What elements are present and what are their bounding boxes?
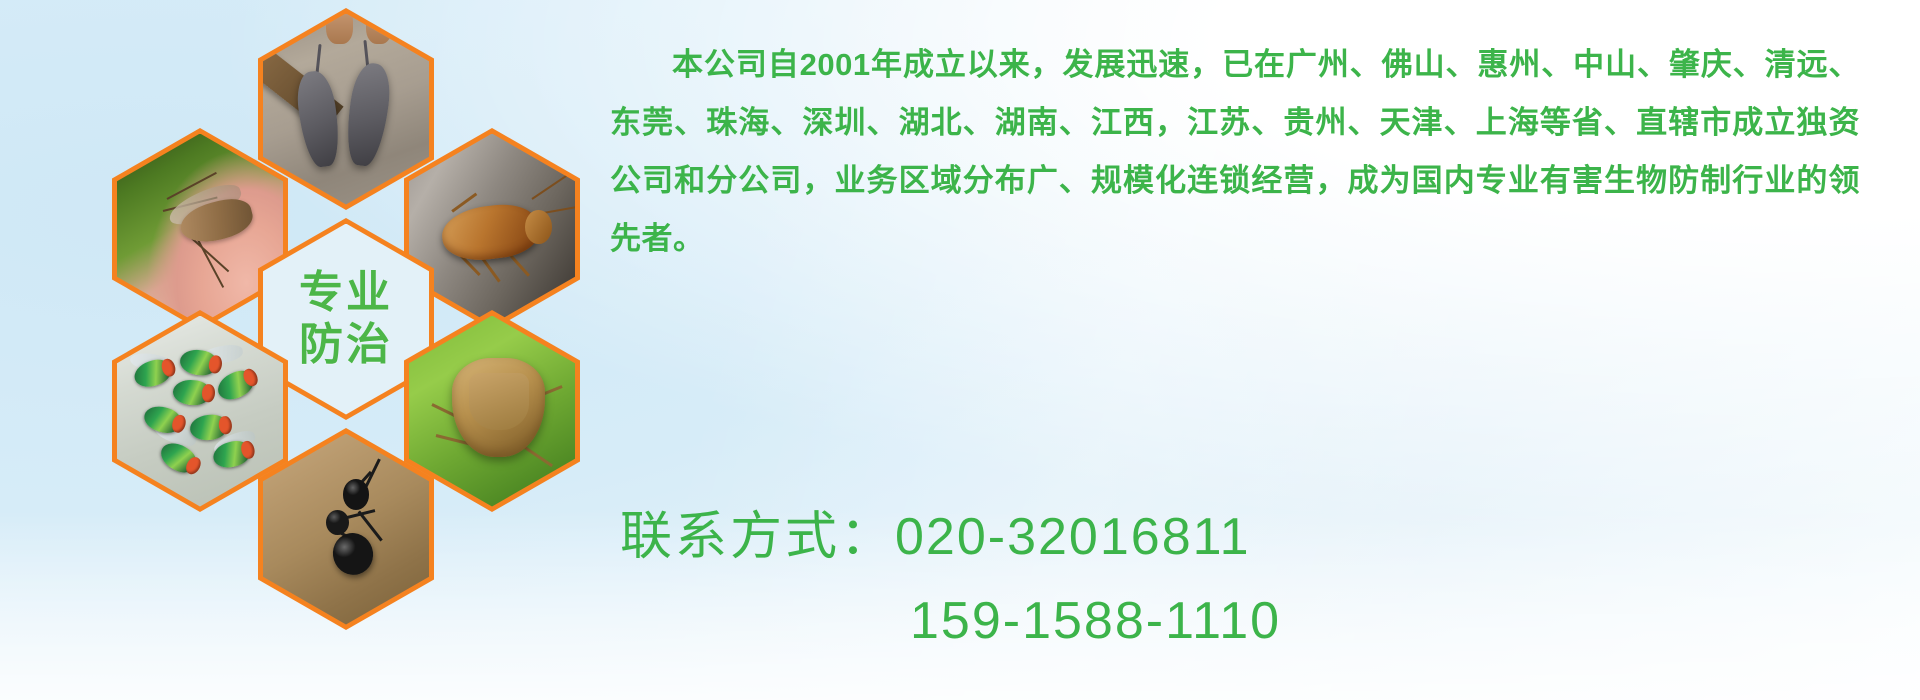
badge-line-1: 专业 xyxy=(299,270,393,316)
contact-block: 联系方式：020-32016811 159-1588-1110 xyxy=(620,495,1820,663)
roach-leg-2 xyxy=(481,256,501,282)
roach-head xyxy=(525,210,552,244)
promo-banner: 专业 防治 xyxy=(0,0,1920,700)
fly-photo xyxy=(117,316,283,507)
fly-body-3 xyxy=(213,366,257,404)
ant-photo xyxy=(263,434,429,625)
contact-line-secondary: 159-1588-1110 xyxy=(620,579,1820,663)
copy-block: 本公司自2001年成立以来，发展迅速，已在广州、佛山、惠州、中山、肇庆、清远、东… xyxy=(610,36,1860,268)
roach-antenna-1 xyxy=(531,171,573,201)
hex-inner-ant xyxy=(263,434,429,625)
ant-head xyxy=(343,479,370,510)
rodent-photo xyxy=(263,14,429,205)
hex-inner-stinkbug xyxy=(409,316,575,507)
hex-inner-fly xyxy=(117,316,283,507)
hand-shape-a xyxy=(326,14,353,45)
fly-body-8 xyxy=(173,379,211,406)
fly-body-5 xyxy=(189,413,228,442)
rat-body-a xyxy=(293,69,342,169)
phone-primary[interactable]: 020-32016811 xyxy=(895,508,1251,566)
ant-gaster xyxy=(327,528,378,580)
badge-line-2: 防治 xyxy=(299,322,393,368)
hand-shape-b xyxy=(366,14,393,45)
hexagon-photo-cluster: 专业 防治 xyxy=(90,0,590,560)
contact-label: 联系方式： xyxy=(620,508,895,566)
fly-body-4 xyxy=(141,403,183,437)
rat-body-b xyxy=(342,61,394,168)
stinkbug-shield xyxy=(469,373,529,430)
stinkbug-photo xyxy=(409,316,575,507)
contact-line-primary: 联系方式：020-32016811 xyxy=(620,495,1820,579)
hex-inner-rodent xyxy=(263,14,429,205)
ant-thorax xyxy=(326,510,349,535)
phone-secondary[interactable]: 159-1588-1110 xyxy=(910,592,1281,650)
company-intro-paragraph: 本公司自2001年成立以来，发展迅速，已在广州、佛山、惠州、中山、肇庆、清远、东… xyxy=(610,36,1860,268)
